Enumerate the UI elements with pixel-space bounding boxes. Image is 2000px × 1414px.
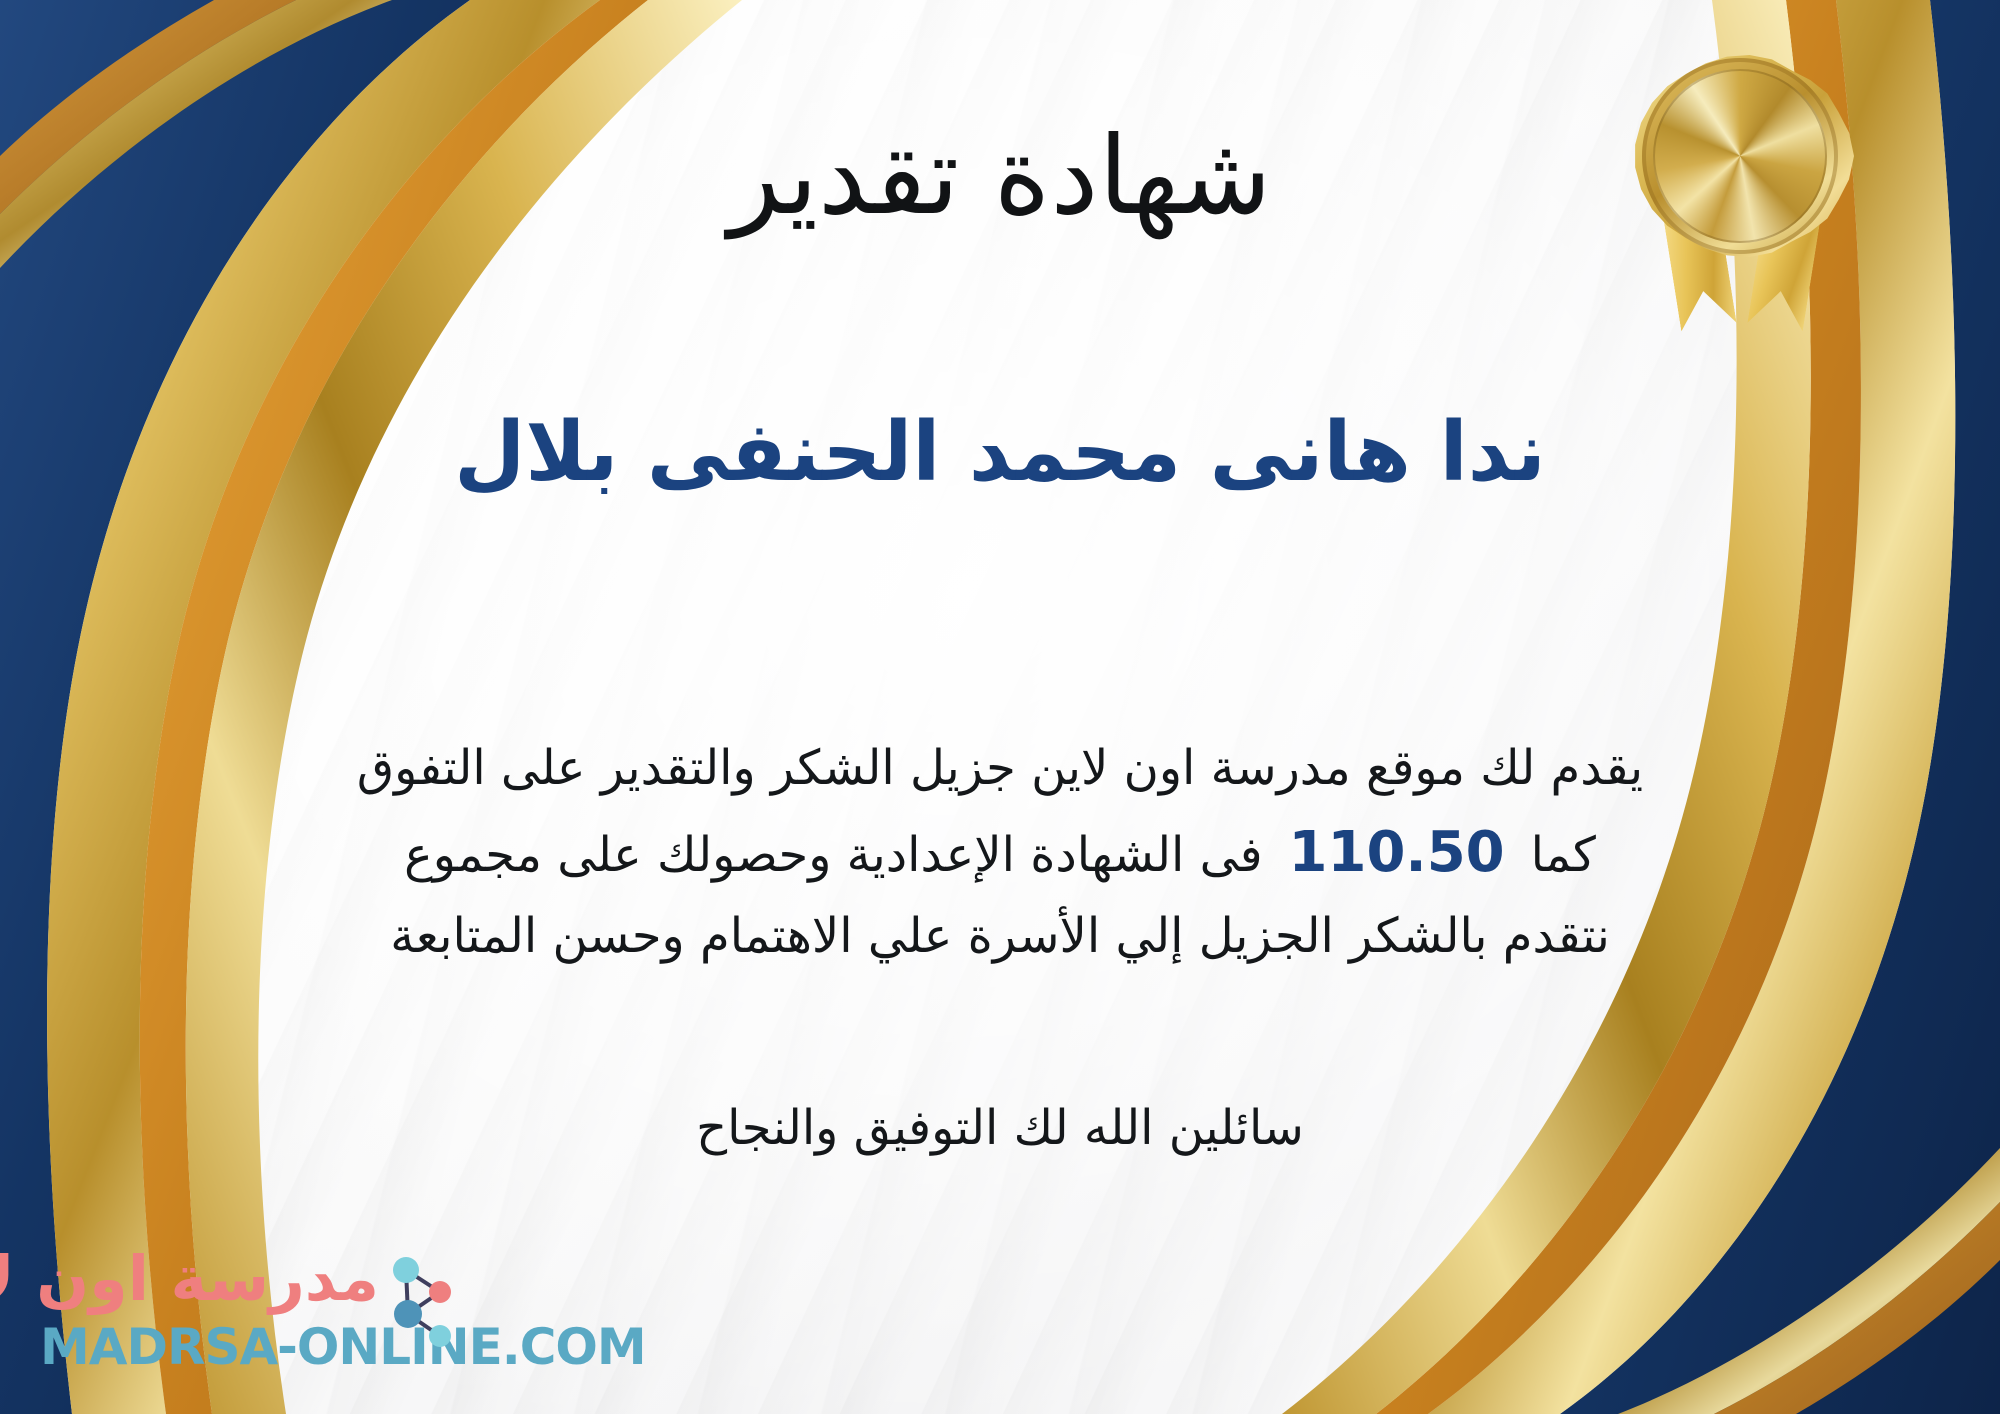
score-value: 110.50 [1263, 820, 1531, 885]
certificate-title: شهادة تقدير [0, 118, 2000, 237]
body-line-3: نتقدم بالشكر الجزيل إلي الأسرة علي الاهت… [210, 898, 1790, 976]
body-line-2: كما110.50فى الشهادة الإعدادية وحصولك على… [210, 808, 1790, 899]
logo-arabic-text: مدرسة اون لاين [0, 1242, 379, 1315]
logo-url-text: MADRSA-ONLINE.COM [40, 1318, 646, 1376]
certificate-body: يقدم لك موقع مدرسة اون لاين جزيل الشكر و… [210, 730, 1790, 976]
body-line-2-before: فى الشهادة الإعدادية وحصولك على مجموع [404, 827, 1262, 883]
recipient-name: ندا هانى محمد الحنفى بلال [0, 402, 2000, 505]
site-logo[interactable]: مدرسة اون لاين MADRSA-ONLINE.COM [34, 1238, 464, 1388]
certificate-page: شهادة تقدير ندا هانى محمد الحنفى بلال يق… [0, 0, 2000, 1414]
body-line-1: يقدم لك موقع مدرسة اون لاين جزيل الشكر و… [210, 730, 1790, 808]
body-line-2-after: كما [1531, 827, 1596, 883]
network-nodes-icon [382, 1248, 460, 1360]
closing-line: سائلين الله لك التوفيق والنجاح [0, 1100, 2000, 1156]
certificate-content: شهادة تقدير ندا هانى محمد الحنفى بلال يق… [0, 0, 2000, 1414]
